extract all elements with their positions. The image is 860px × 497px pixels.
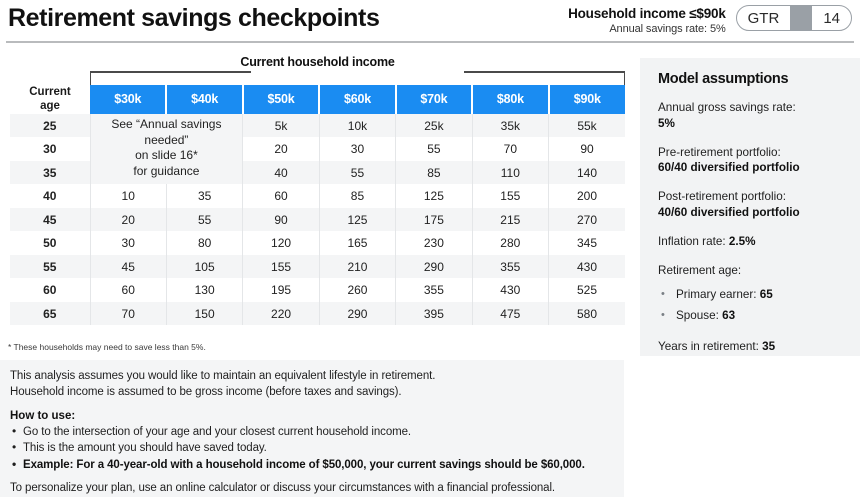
cell-30-80k: 70	[472, 137, 548, 161]
gtr-badge: GTR 14	[736, 5, 852, 31]
assumption-inflation-value: 2.5%	[729, 235, 756, 248]
column-header-90k: $90k	[549, 85, 625, 114]
cell-35-50k: 40	[243, 161, 319, 185]
corner-label-line2: age	[10, 99, 90, 113]
table-footnote: * These households may need to save less…	[8, 342, 206, 352]
cell-55-30k: 45	[90, 255, 166, 279]
cell-45-50k: 90	[243, 208, 319, 232]
cell-50-40k: 80	[166, 231, 242, 255]
how-to-use-list: Go to the intersection of your age and y…	[10, 424, 614, 474]
column-header-80k: $80k	[472, 85, 548, 114]
row-age-30: 30	[10, 137, 90, 161]
row-age-55: 55	[10, 255, 90, 279]
cell-65-90k: 580	[549, 302, 625, 326]
cell-25-50k: 5k	[243, 114, 319, 138]
cell-45-80k: 215	[472, 208, 548, 232]
income-bracket-row: Current household income	[10, 62, 625, 85]
cell-40-60k: 85	[319, 184, 395, 208]
cell-60-70k: 355	[396, 278, 472, 302]
model-assumptions-panel: Model assumptions Annual gross savings r…	[640, 58, 860, 356]
assumption-pre-retirement: Pre-retirement portfolio: 60/40 diversif…	[658, 145, 844, 177]
assumption-retirement-age-label: Retirement age:	[658, 264, 741, 277]
cell-65-60k: 290	[319, 302, 395, 326]
header-income-summary: Household income ≤$90k Annual savings ra…	[568, 5, 726, 35]
list-item-spouse: Spouse: 63	[658, 306, 844, 326]
spouse-label: Spouse:	[676, 309, 722, 322]
page-title: Retirement savings checkpoints	[8, 4, 379, 33]
column-header-60k: $60k	[319, 85, 395, 114]
cell-55-50k: 155	[243, 255, 319, 279]
cell-50-80k: 280	[472, 231, 548, 255]
model-assumptions-title: Model assumptions	[658, 71, 844, 87]
cell-30-50k: 20	[243, 137, 319, 161]
assumption-years-in-retirement: Years in retirement: 35	[658, 339, 844, 355]
cell-65-30k: 70	[90, 302, 166, 326]
annual-savings-rate-label: Annual savings rate: 5%	[568, 23, 726, 35]
primary-earner-label: Primary earner:	[676, 288, 760, 301]
cell-50-70k: 230	[396, 231, 472, 255]
table-row: 50 30 80 120 165 230 280 345	[10, 231, 625, 255]
cell-45-90k: 270	[549, 208, 625, 232]
cell-45-60k: 125	[319, 208, 395, 232]
cell-50-30k: 30	[90, 231, 166, 255]
cell-35-60k: 55	[319, 161, 395, 185]
table-row: 25 See “Annual savings needed” on slide …	[10, 114, 625, 138]
header-right-group: Household income ≤$90k Annual savings ra…	[568, 5, 852, 35]
list-item-primary-earner: Primary earner: 65	[658, 285, 844, 305]
table-row: 40 10 35 60 85 125 155 200	[10, 184, 625, 208]
assumption-inflation-label: Inflation rate:	[658, 235, 729, 248]
assumption-savings-rate-label: Annual gross savings rate:	[658, 101, 796, 114]
table-row: 55 45 105 155 210 290 355 430	[10, 255, 625, 279]
income-bracket-line	[90, 71, 625, 85]
cell-50-90k: 345	[549, 231, 625, 255]
cell-35-80k: 110	[472, 161, 548, 185]
assumption-post-retirement-label: Post-retirement portfolio:	[658, 190, 786, 203]
assumption-post-retirement-value: 40/60 diversified portfolio	[658, 206, 800, 219]
corner-label-line1: Current	[10, 85, 90, 99]
cell-55-40k: 105	[166, 255, 242, 279]
cell-45-40k: 55	[166, 208, 242, 232]
list-item-example: Example: For a 40-year-old with a househ…	[10, 457, 614, 474]
gtr-badge-code: GTR	[737, 6, 791, 30]
cell-40-90k: 200	[549, 184, 625, 208]
slide-root: Retirement savings checkpoints Household…	[0, 0, 860, 497]
how-to-use-heading: How to use:	[10, 410, 614, 422]
table-row: 65 70 150 220 290 395 475 580	[10, 302, 625, 326]
assumption-savings-rate: Annual gross savings rate: 5%	[658, 100, 844, 132]
checkpoints-table-wrap: Current household income Current age $30…	[10, 62, 625, 325]
column-header-40k: $40k	[166, 85, 242, 114]
cell-65-50k: 220	[243, 302, 319, 326]
primary-earner-value: 65	[760, 288, 773, 301]
cell-55-90k: 430	[549, 255, 625, 279]
cell-65-40k: 150	[166, 302, 242, 326]
income-bracket-label: Current household income	[233, 55, 401, 69]
row-age-25: 25	[10, 114, 90, 138]
analysis-line-2: Household income is assumed to be gross …	[10, 384, 614, 400]
analysis-line-1: This analysis assumes you would like to …	[10, 368, 614, 384]
assumption-inflation: Inflation rate: 2.5%	[658, 234, 844, 250]
years-in-retirement-label: Years in retirement:	[658, 340, 762, 353]
years-in-retirement-value: 35	[762, 340, 775, 353]
cell-30-60k: 30	[319, 137, 395, 161]
row-age-45: 45	[10, 208, 90, 232]
cell-60-30k: 60	[90, 278, 166, 302]
household-income-label: Household income ≤$90k	[568, 6, 726, 21]
assumption-savings-rate-value: 5%	[658, 117, 675, 130]
cell-25-70k: 25k	[396, 114, 472, 138]
corner-header-cell: Current age	[10, 85, 90, 114]
cell-60-80k: 430	[472, 278, 548, 302]
row-age-60: 60	[10, 278, 90, 302]
cell-25-80k: 35k	[472, 114, 548, 138]
cell-60-50k: 195	[243, 278, 319, 302]
cell-60-90k: 525	[549, 278, 625, 302]
cell-60-60k: 260	[319, 278, 395, 302]
spouse-value: 63	[722, 309, 735, 322]
assumption-post-retirement: Post-retirement portfolio: 40/60 diversi…	[658, 189, 844, 221]
table-body: 25 See “Annual savings needed” on slide …	[10, 114, 625, 326]
assumption-retirement-age: Retirement age: Primary earner: 65 Spous…	[658, 263, 844, 327]
row-age-65: 65	[10, 302, 90, 326]
income-bracket-label-wrap: Current household income	[10, 55, 625, 69]
cell-45-70k: 175	[396, 208, 472, 232]
cell-40-40k: 35	[166, 184, 242, 208]
cell-30-90k: 90	[549, 137, 625, 161]
gtr-badge-number: 14	[812, 6, 851, 30]
title-divider-rule	[6, 41, 854, 43]
cell-55-60k: 210	[319, 255, 395, 279]
assumption-pre-retirement-value: 60/40 diversified portfolio	[658, 161, 800, 174]
note-line-4: for guidance	[91, 164, 243, 180]
table-header-row: Current age $30k $40k $50k $60k $70k $80…	[10, 85, 625, 114]
cell-40-30k: 10	[90, 184, 166, 208]
checkpoints-table: Current age $30k $40k $50k $60k $70k $80…	[10, 85, 625, 325]
list-item: Go to the intersection of your age and y…	[10, 424, 614, 441]
table-row: 60 60 130 195 260 355 430 525	[10, 278, 625, 302]
explanatory-panel: This analysis assumes you would like to …	[0, 360, 624, 497]
cell-25-90k: 55k	[549, 114, 625, 138]
cell-60-40k: 130	[166, 278, 242, 302]
cell-25-60k: 10k	[319, 114, 395, 138]
table-head: Current age $30k $40k $50k $60k $70k $80…	[10, 85, 625, 114]
retirement-age-list: Primary earner: 65 Spouse: 63	[658, 285, 844, 326]
row-age-50: 50	[10, 231, 90, 255]
column-header-70k: $70k	[396, 85, 472, 114]
cell-50-50k: 120	[243, 231, 319, 255]
cell-65-80k: 475	[472, 302, 548, 326]
cell-40-70k: 125	[396, 184, 472, 208]
merged-guidance-note: See “Annual savings needed” on slide 16*…	[90, 114, 243, 185]
row-age-40: 40	[10, 184, 90, 208]
cell-40-80k: 155	[472, 184, 548, 208]
gtr-badge-divider	[790, 6, 812, 30]
cell-45-30k: 20	[90, 208, 166, 232]
note-line-1: See “Annual savings	[91, 114, 243, 133]
row-age-35: 35	[10, 161, 90, 185]
cell-65-70k: 395	[396, 302, 472, 326]
cell-55-70k: 290	[396, 255, 472, 279]
column-header-30k: $30k	[90, 85, 166, 114]
note-line-3: on slide 16*	[91, 148, 243, 164]
cell-30-70k: 55	[396, 137, 472, 161]
cell-35-90k: 140	[549, 161, 625, 185]
list-item: This is the amount you should have saved…	[10, 440, 614, 457]
assumption-pre-retirement-label: Pre-retirement portfolio:	[658, 146, 781, 159]
column-header-50k: $50k	[243, 85, 319, 114]
cell-35-70k: 85	[396, 161, 472, 185]
note-line-2: needed”	[91, 133, 243, 149]
cell-55-80k: 355	[472, 255, 548, 279]
cell-50-60k: 165	[319, 231, 395, 255]
cell-40-50k: 60	[243, 184, 319, 208]
table-row: 45 20 55 90 125 175 215 270	[10, 208, 625, 232]
closing-note: To personalize your plan, use an online …	[10, 482, 614, 494]
